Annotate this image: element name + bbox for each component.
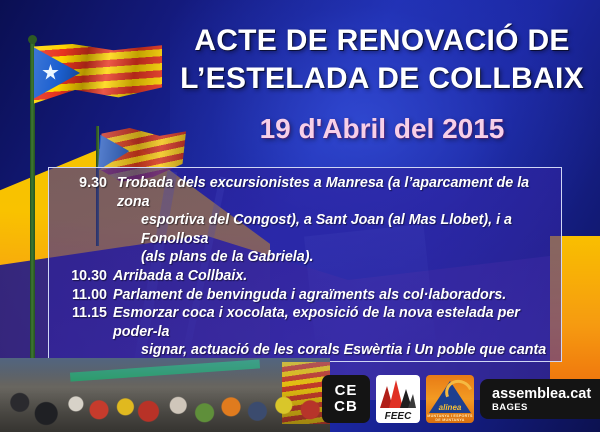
title-line-2: L’ESTELADA DE COLLBAIX	[176, 60, 588, 98]
schedule-continuation: (als plans de la Gabriela).	[55, 248, 553, 267]
crowd-photo	[0, 358, 330, 432]
schedule-time: 10.30	[55, 267, 113, 286]
logo-alinea[interactable]: alinea MUNTANYA I ESPORTS DE MUNTANYA	[426, 375, 474, 423]
schedule-description: Parlament de benvinguda i agraïments als…	[113, 286, 553, 305]
logo-feec-label: FEEC	[376, 411, 420, 422]
schedule-row: 9.30 Trobada dels excursionistes a Manre…	[55, 174, 553, 211]
logo-alinea-label: alinea	[426, 403, 474, 412]
schedule-row: 11.15 Esmorzar coca i xocolata, exposici…	[55, 304, 553, 341]
event-date: 19 d'Abril del 2015	[176, 112, 588, 146]
title-line-1: ACTE DE RENOVACIÓ DE	[176, 22, 588, 60]
schedule-time: 11.00	[55, 286, 113, 305]
logo-assemblea[interactable]: assemblea.cat BAGES	[480, 379, 600, 419]
logo-cecb[interactable]: CE CB	[322, 375, 370, 423]
logo-assemblea-label: assemblea.cat	[492, 386, 596, 402]
schedule-description: Arribada a Collbaix.	[113, 267, 553, 286]
schedule-time: 11.15	[55, 304, 113, 323]
sponsor-logo-bar: CE CB FEEC alinea MUNTANYA I ESPORTS DE …	[322, 374, 600, 424]
logo-alinea-sublabel: MUNTANYA I ESPORTS DE MUNTANYA	[426, 414, 474, 422]
schedule-panel: 9.30 Trobada dels excursionistes a Manre…	[48, 167, 562, 362]
poster-canvas: ACTE DE RENOVACIÓ DE L’ESTELADA DE COLLB…	[0, 0, 600, 432]
photo-green-banner	[70, 359, 260, 381]
schedule-description: Esmorzar coca i xocolata, exposició de l…	[113, 304, 553, 341]
schedule-row: 11.00 Parlament de benvinguda i agraïmen…	[55, 286, 553, 305]
schedule-row: 10.30 Arribada a Collbaix.	[55, 267, 553, 286]
schedule-continuation: esportiva del Congost), a Sant Joan (al …	[55, 211, 553, 248]
schedule-time: 9.30	[55, 174, 117, 193]
flagpole-knob-icon	[28, 35, 37, 44]
logo-feec[interactable]: FEEC	[376, 375, 420, 423]
logo-cecb-line1: CE	[335, 383, 358, 399]
page-title: ACTE DE RENOVACIÓ DE L’ESTELADA DE COLLB…	[176, 22, 588, 98]
schedule-description: Trobada dels excursionistes a Manresa (a…	[117, 174, 553, 211]
logo-cecb-line2: CB	[334, 399, 358, 415]
logo-assemblea-sublabel: BAGES	[492, 402, 596, 413]
mountain-peaks-icon	[380, 380, 416, 408]
